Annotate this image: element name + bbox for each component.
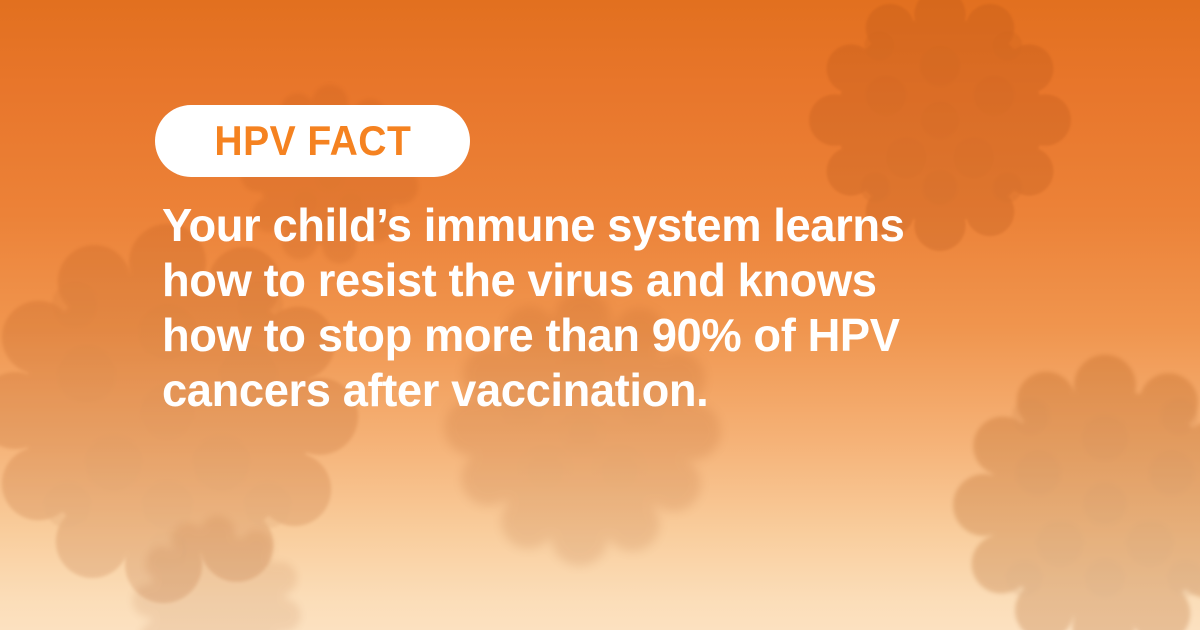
hpv-fact-badge-label: HPV FACT <box>214 120 411 162</box>
hpv-fact-badge: HPV FACT <box>155 105 470 177</box>
headline-line-3: how to stop more than 90% of HPV <box>162 308 1088 363</box>
headline-line-1: Your child’s immune system learns <box>162 198 1088 253</box>
headline-line-2: how to resist the virus and knows <box>162 253 1088 308</box>
headline-line-4: cancers after vaccination. <box>162 363 1088 418</box>
headline: Your child’s immune system learns how to… <box>162 198 1088 418</box>
hpv-fact-graphic: HPV FACT Your child’s immune system lear… <box>0 0 1200 630</box>
footer-logos: healthychildren.org Powered by pediatric… <box>0 520 1200 630</box>
